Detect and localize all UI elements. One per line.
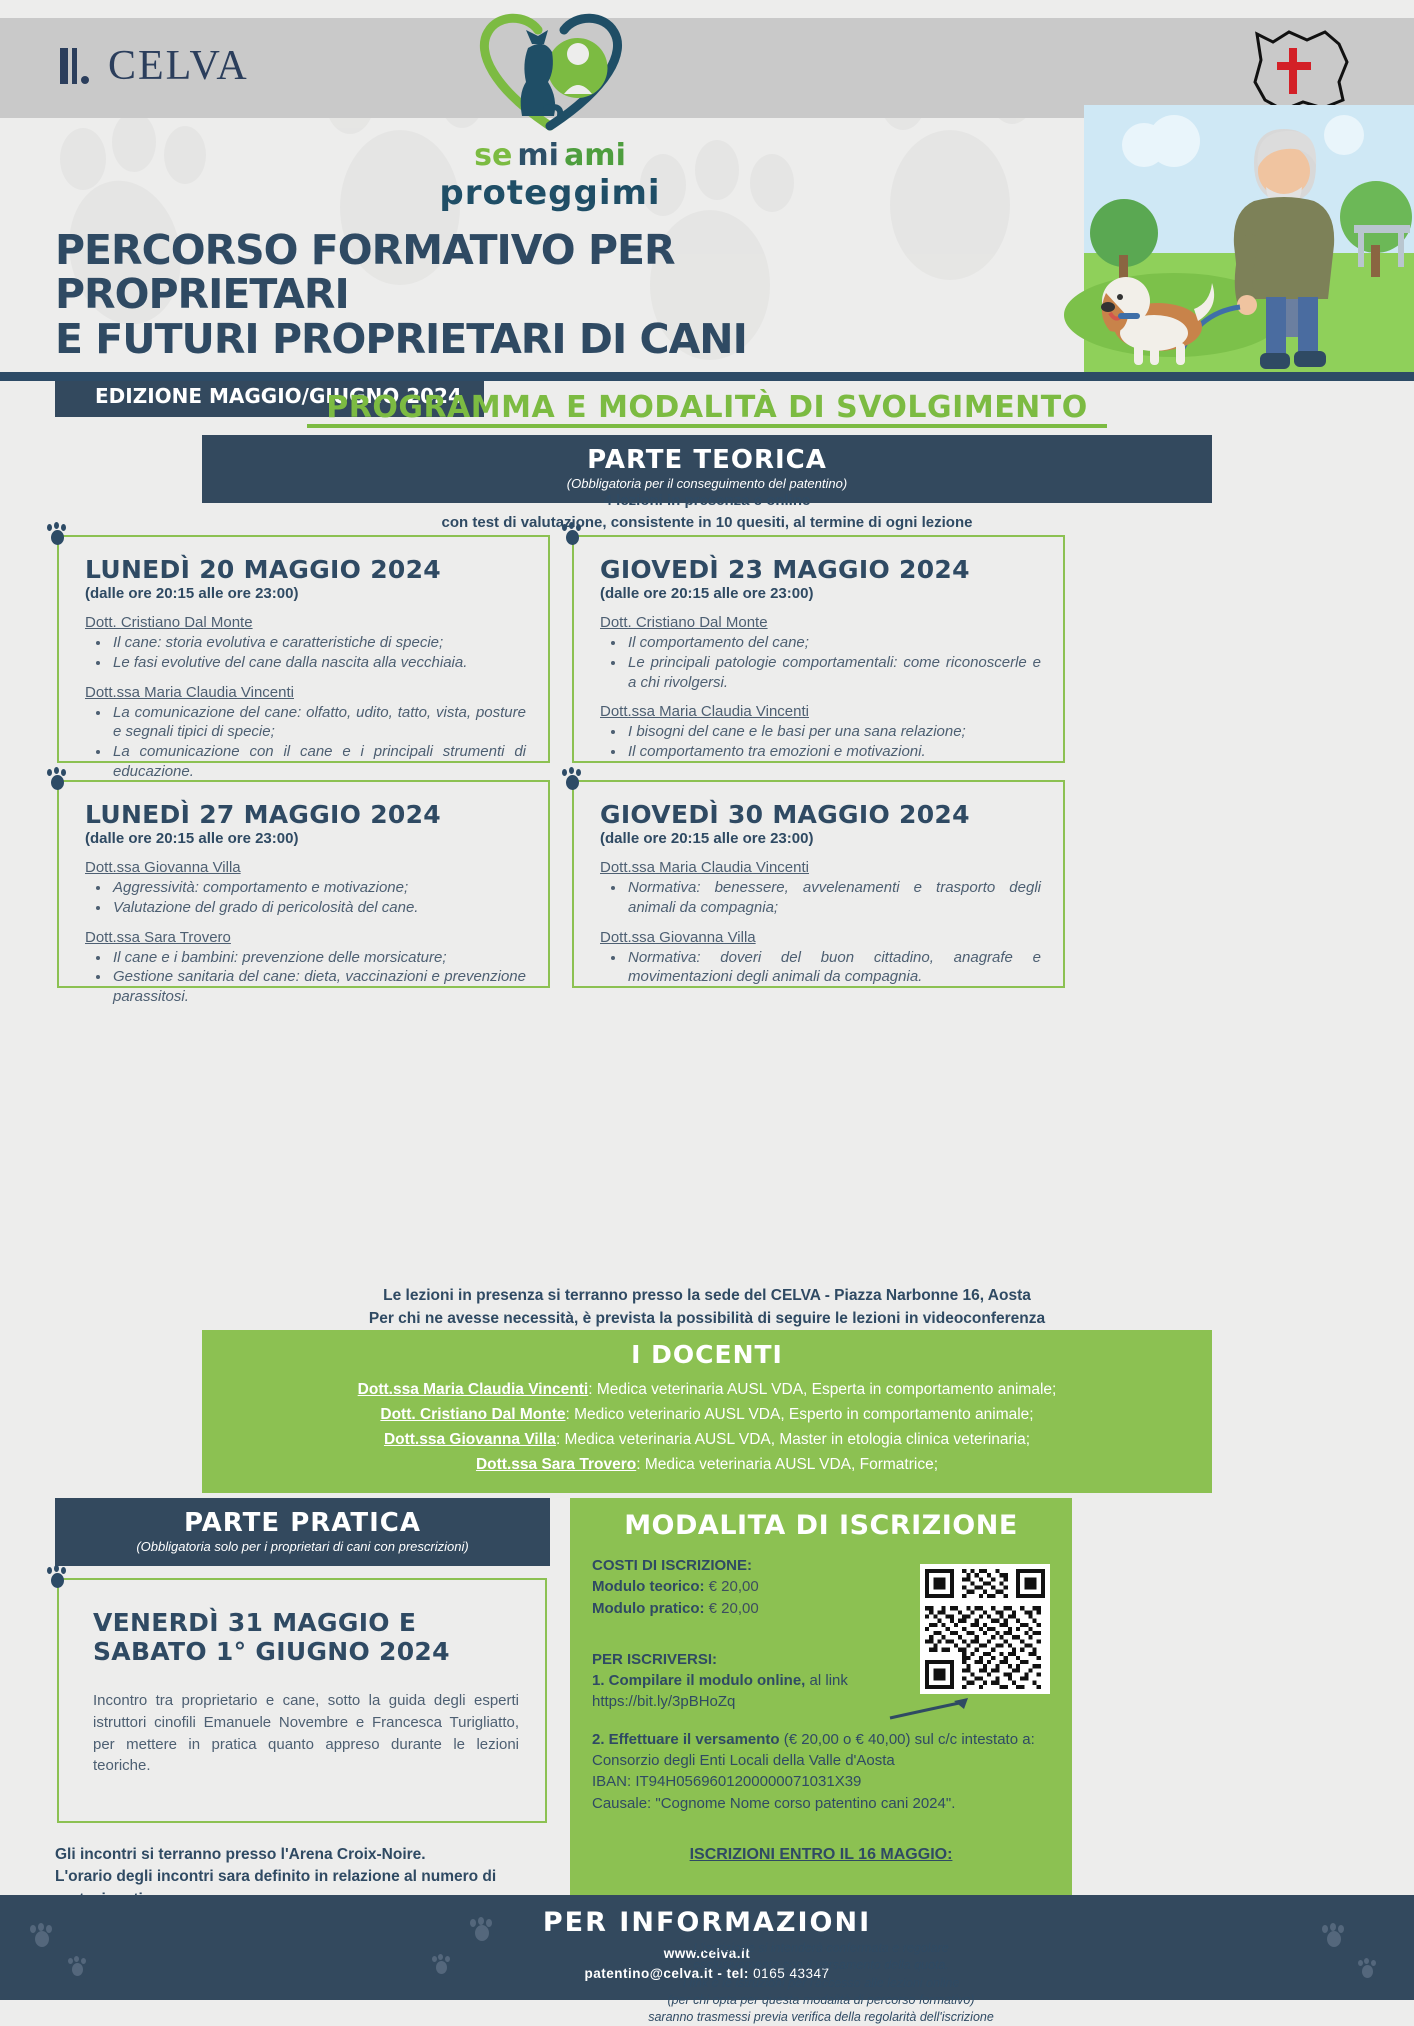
iban: IBAN: IT94H0569601200000071031X39 <box>592 1771 1054 1792</box>
lesson-topic: Aggressività: comportamento e motivazion… <box>111 878 526 898</box>
enrollment-panel: MODALITA DI ISCRIZIONE <box>570 1498 1072 1938</box>
docente-desc: : Medico veterinario AUSL VDA, Esperto i… <box>566 1406 1034 1423</box>
tagline-se: se <box>474 138 512 173</box>
paw-icon <box>47 1566 71 1588</box>
paw-icon <box>1322 1923 1348 1947</box>
practice-note-line2: L'orario degli incontri sara definito in… <box>55 1866 555 1888</box>
docente-row: Dott. Cristiano Dal Monte: Medico veteri… <box>202 1402 1212 1427</box>
theory-note-line2: con test di valutazione, consistente in … <box>0 512 1414 534</box>
parte-pratica-band: PARTE PRATICA (Obbligatoria solo per i p… <box>55 1498 550 1566</box>
lesson-day: LUNEDÌ 20 MAGGIO 2024 <box>85 555 526 584</box>
paw-icon <box>1358 1959 1384 1983</box>
qr-code-icon <box>925 1569 1045 1689</box>
enrollment-link[interactable]: https://bit.ly/3pBHoZq <box>592 1691 1054 1712</box>
docente-name: Dott. Cristiano Dal Monte <box>380 1406 565 1423</box>
page-title-line2: E FUTURI PROPRIETARI DI CANI <box>55 317 855 361</box>
theory-note-line1: 4 lezioni in presenza e online <box>0 490 1414 512</box>
lesson-topic: Valutazione del grado di pericolosità de… <box>111 898 526 918</box>
lesson-hours: (dalle ore 20:15 alle ore 23:00) <box>600 585 1041 602</box>
enrollment-fineprint: L'iscrizione si intenderà confermata e r… <box>570 1940 1072 2026</box>
lesson-topic: Il cane: storia evolutiva e caratteristi… <box>111 633 526 653</box>
cost-theory-label: Modulo teorico: <box>592 1578 705 1595</box>
fineprint-line2: esclusivamente con il versamento della q… <box>570 1957 1072 1974</box>
lesson-topic-list: Il cane e i bambini: prevenzione delle m… <box>111 948 526 1007</box>
man-walking-dog-icon <box>1054 105 1414 375</box>
lesson-teacher: Dott.ssa Giovanna Villa <box>600 929 1041 946</box>
brand-tagline: se mi ami proteggimi <box>430 138 670 213</box>
arrow-to-qr-icon <box>888 1694 978 1722</box>
parte-teorica-subtitle: (Obbligatoria per il conseguimento del p… <box>202 476 1212 491</box>
celva-logo: CELVA <box>60 42 249 90</box>
enrollment-title: MODALITA DI ISCRIZIONE <box>570 1498 1072 1541</box>
docente-name: Dott.ssa Maria Claudia Vincenti <box>358 1381 589 1398</box>
lesson-body: Dott.ssa Maria Claudia Vincenti Normativ… <box>600 859 1041 987</box>
lesson-topic: Le principali patologie comportamentali:… <box>626 653 1041 693</box>
lesson-topic: Normativa: doveri del buon cittadino, an… <box>626 948 1041 988</box>
step2-rest: (€ 20,00 o € 40,00) sul c/c intestato a: <box>780 1731 1035 1748</box>
lesson-day: LUNEDÌ 27 MAGGIO 2024 <box>85 800 526 829</box>
venue-note: Le lezioni in presenza si terranno press… <box>0 1284 1414 1331</box>
lesson-topic-list: Il cane: storia evolutiva e caratteristi… <box>111 633 526 673</box>
lesson-card: GIOVEDÌ 23 MAGGIO 2024 (dalle ore 20:15 … <box>572 535 1065 763</box>
paw-icon <box>30 1923 56 1947</box>
lesson-teacher: Dott.ssa Giovanna Villa <box>85 859 526 876</box>
practice-day-line1: VENERDÌ 31 MAGGIO E <box>93 1608 519 1637</box>
program-section-title: PROGRAMMA E MODALITÀ DI SVOLGIMENTO <box>0 390 1414 425</box>
lesson-body: Dott.ssa Giovanna Villa Aggressività: co… <box>85 859 526 1007</box>
brand-logo: se mi ami proteggimi <box>430 8 670 213</box>
lesson-topic-list: Normativa: benessere, avvelenamenti e tr… <box>626 878 1041 918</box>
lesson-hours: (dalle ore 20:15 alle ore 23:00) <box>85 830 526 847</box>
paw-icon <box>470 1917 496 1941</box>
venue-note-line2: Per chi ne avesse necessità, è prevista … <box>0 1307 1414 1330</box>
hero-illustration <box>1054 105 1414 375</box>
lesson-day: GIOVEDÌ 30 MAGGIO 2024 <box>600 800 1041 829</box>
page-title-line1: PERCORSO FORMATIVO PER PROPRIETARI <box>55 228 855 317</box>
celva-mark-icon <box>60 46 94 86</box>
tagline-proteggimi: proteggimi <box>430 173 670 213</box>
enrollment-deadline: ISCRIZIONI ENTRO IL 16 MAGGIO: <box>570 1846 1072 1864</box>
parte-teorica-title: PARTE TEORICA <box>202 445 1212 475</box>
paw-icon <box>47 523 71 545</box>
lesson-teacher: Dott. Cristiano Dal Monte <box>85 614 526 631</box>
fineprint-line4: (per chi opta per questa modalità di per… <box>570 1992 1072 2009</box>
lesson-topic-list: Aggressività: comportamento e motivazion… <box>111 878 526 918</box>
tagline-ami: ami <box>564 138 626 173</box>
fineprint-line1: L'iscrizione si intenderà confermata e r… <box>570 1940 1072 1957</box>
lesson-topic-list: I bisogni del cane e le basi per una san… <box>626 722 1041 762</box>
lesson-teacher: Dott. Cristiano Dal Monte <box>600 614 1041 631</box>
celva-wordmark: CELVA <box>108 42 249 90</box>
paw-icon <box>562 768 586 790</box>
docente-name: Dott.ssa Giovanna Villa <box>384 1431 556 1448</box>
section-divider <box>0 372 1414 381</box>
docente-name: Dott.ssa Sara Trovero <box>476 1456 636 1473</box>
practice-day-line2: SABATO 1° GIUGNO 2024 <box>93 1637 519 1666</box>
lesson-body: Dott. Cristiano Dal Monte Il cane: stori… <box>85 614 526 782</box>
lesson-teacher: Dott.ssa Maria Claudia Vincenti <box>600 703 1041 720</box>
tagline-mi: mi <box>517 138 559 173</box>
footer-title: PER INFORMAZIONI <box>0 1895 1414 1938</box>
lesson-teacher: Dott.ssa Maria Claudia Vincenti <box>600 859 1041 876</box>
program-title-underline <box>307 424 1107 428</box>
heart-dog-cat-icon <box>458 8 643 133</box>
fineprint-line5: saranno trasmessi previa verifica della … <box>570 2009 1072 2026</box>
lesson-topic: Normativa: benessere, avvelenamenti e tr… <box>626 878 1041 918</box>
paw-icon <box>432 1955 458 1979</box>
lesson-teacher: Dott.ssa Sara Trovero <box>85 929 526 946</box>
lesson-topic: Il cane e i bambini: prevenzione delle m… <box>111 948 526 968</box>
lesson-topic-list: Il comportamento del cane; Le principali… <box>626 633 1041 692</box>
lesson-card: GIOVEDÌ 30 MAGGIO 2024 (dalle ore 20:15 … <box>572 780 1065 988</box>
theory-lessons-note: 4 lezioni in presenza e online con test … <box>0 490 1414 534</box>
docente-row: Dott.ssa Giovanna Villa: Medica veterina… <box>202 1427 1212 1452</box>
docente-row: Dott.ssa Sara Trovero: Medica veterinari… <box>202 1452 1212 1477</box>
venue-note-line1: Le lezioni in presenza si terranno press… <box>0 1284 1414 1307</box>
poster-title-block: PERCORSO FORMATIVO PER PROPRIETARI E FUT… <box>55 228 855 417</box>
docenti-panel: I DOCENTI Dott.ssa Maria Claudia Vincent… <box>202 1330 1212 1493</box>
causale: Causale: "Cognome Nome corso patentino c… <box>592 1793 1054 1814</box>
lesson-card: LUNEDÌ 27 MAGGIO 2024 (dalle ore 20:15 a… <box>57 780 550 988</box>
lesson-topic: I bisogni del cane e le basi per una san… <box>626 722 1041 742</box>
fineprint-line3: I link e le istruzioni per l'accesso all… <box>570 1975 1072 1992</box>
step2-account: Consorzio degli Enti Locali della Valle … <box>592 1750 1054 1771</box>
qr-code[interactable] <box>920 1564 1050 1694</box>
lesson-topic: Gestione sanitaria del cane: dieta, vacc… <box>111 967 526 1007</box>
lesson-day: GIOVEDÌ 23 MAGGIO 2024 <box>600 555 1041 584</box>
step1-bold: 1. Compilare il modulo online, <box>592 1672 805 1689</box>
lesson-topic: La comunicazione con il cane e i princip… <box>111 742 526 782</box>
step2-bold: 2. Effettuare il versamento <box>592 1731 780 1748</box>
lesson-card: LUNEDÌ 20 MAGGIO 2024 (dalle ore 20:15 a… <box>57 535 550 763</box>
practice-note-line1: Gli incontri si terranno presso l'Arena … <box>55 1844 555 1866</box>
docenti-title: I DOCENTI <box>202 1340 1212 1369</box>
step1-rest: al link <box>805 1672 848 1689</box>
ausl-region-icon <box>1243 28 1361 114</box>
paw-icon <box>562 523 586 545</box>
lesson-hours: (dalle ore 20:15 alle ore 23:00) <box>600 830 1041 847</box>
docente-desc: : Medica veterinaria AUSL VDA, Formatric… <box>636 1456 938 1473</box>
lesson-topic: Le fasi evolutive del cane dalla nascita… <box>111 653 526 673</box>
lesson-topic: Il comportamento del cane; <box>626 633 1041 653</box>
lesson-body: Dott. Cristiano Dal Monte Il comportamen… <box>600 614 1041 762</box>
ausl-logo: Azienda USL Valle d'Aosta - Vallée d'Aos… <box>1242 28 1362 116</box>
paw-icon <box>68 1957 94 1981</box>
lesson-topic: La comunicazione del cane: olfatto, udit… <box>111 703 526 743</box>
lesson-hours: (dalle ore 20:15 alle ore 23:00) <box>85 585 526 602</box>
lesson-topic-list: La comunicazione del cane: olfatto, udit… <box>111 703 526 782</box>
poster-page: CELVA se mi ami proteggimi Azienda USL V… <box>0 0 1414 2000</box>
docente-row: Dott.ssa Maria Claudia Vincenti: Medica … <box>202 1377 1212 1402</box>
cost-practice-value: € 20,00 <box>709 1600 759 1617</box>
step2-row: 2. Effettuare il versamento (€ 20,00 o €… <box>592 1729 1054 1750</box>
practice-card: VENERDÌ 31 MAGGIO E SABATO 1° GIUGNO 202… <box>57 1578 547 1823</box>
cost-practice-label: Modulo pratico: <box>592 1600 705 1617</box>
parte-pratica-title: PARTE PRATICA <box>55 1508 550 1538</box>
lesson-topic-list: Normativa: doveri del buon cittadino, an… <box>626 948 1041 988</box>
paw-icon <box>47 768 71 790</box>
cost-theory-value: € 20,00 <box>709 1578 759 1595</box>
practice-description: Incontro tra proprietario e cane, sotto … <box>93 1690 519 1777</box>
docente-desc: : Medica veterinaria AUSL VDA, Master in… <box>556 1431 1030 1448</box>
lesson-teacher: Dott.ssa Maria Claudia Vincenti <box>85 684 526 701</box>
docente-desc: : Medica veterinaria AUSL VDA, Esperta i… <box>588 1381 1056 1398</box>
parte-pratica-subtitle: (Obbligatoria solo per i proprietari di … <box>55 1539 550 1554</box>
lesson-topic: Il comportamento tra emozioni e motivazi… <box>626 742 1041 762</box>
